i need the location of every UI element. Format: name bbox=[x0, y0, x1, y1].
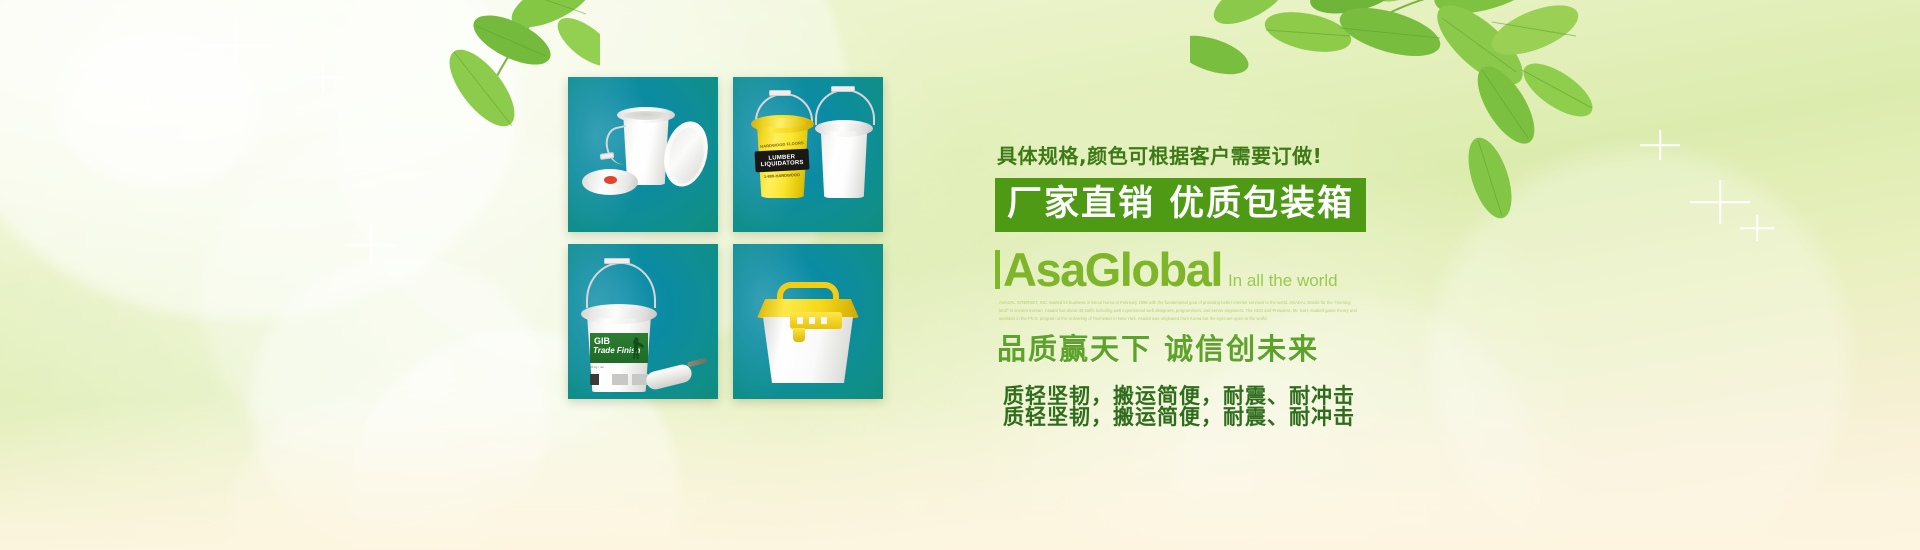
latch-slot bbox=[809, 317, 815, 324]
bottom-block-mid bbox=[612, 374, 628, 385]
promo-banner: HARDWOOD FLOORS FOR LESS! LUMBER LIQUIDA… bbox=[0, 0, 1920, 550]
lid-red-dot bbox=[604, 176, 617, 184]
bucket-label-black: LUMBER LIQUIDATORS bbox=[754, 149, 809, 173]
bokeh-circle bbox=[60, 30, 260, 190]
slogan-sub: 质轻坚韧，搬运简便，耐震、耐冲击 bbox=[1003, 386, 1553, 407]
white-bucket bbox=[818, 127, 870, 198]
slogan-main: 品质赢天下 诚信创未来 bbox=[997, 335, 1553, 364]
brand-accent-bar bbox=[995, 250, 1000, 289]
gib-product-text: Trade Finish bbox=[590, 346, 648, 355]
gib-green-label: GIB Trade Finish bbox=[590, 333, 648, 363]
promo-text-column: 具体规格,颜色可根据客户需要订做! 厂家直销 优质包装箱 AsaGlobal I… bbox=[993, 146, 1553, 428]
product-panel-4[interactable] bbox=[733, 244, 883, 399]
bottom-haze bbox=[0, 400, 1920, 550]
company-paragraph: ASADAL INTERNET, INC. started its busine… bbox=[999, 299, 1359, 322]
yellow-bucket-grip bbox=[769, 90, 791, 96]
bucket-bottom-text: 20 kg / net bbox=[590, 365, 648, 387]
product-panel-2[interactable]: HARDWOOD FLOORS FOR LESS! LUMBER LIQUIDA… bbox=[733, 77, 883, 232]
bottom-block-left bbox=[590, 374, 599, 385]
bokeh-circle bbox=[0, 0, 520, 320]
bucket-lid-top bbox=[590, 308, 648, 319]
product-image-grid: HARDWOOD FLOORS FOR LESS! LUMBER LIQUIDA… bbox=[568, 77, 903, 417]
slogan-sub-reflection: 质轻坚韧，搬运简便，耐震、耐冲击 bbox=[1003, 407, 1553, 428]
sparkle-icon bbox=[200, 20, 270, 70]
product-panel-3[interactable]: GIB Trade Finish 20 kg / net bbox=[568, 244, 718, 399]
banner-title: 厂家直销 优质包装箱 bbox=[995, 178, 1366, 232]
label-line-2: LIQUIDATORS bbox=[761, 159, 804, 167]
white-bucket-lid-top bbox=[822, 123, 866, 132]
brand-name: AsaGlobal bbox=[1003, 246, 1222, 293]
sparkle-icon bbox=[1690, 180, 1750, 224]
sparkle-icon bbox=[1740, 215, 1774, 241]
paint-roller bbox=[645, 363, 694, 392]
slogan-sub-wrap: 质轻坚韧，搬运简便，耐震、耐冲击 质轻坚韧，搬运简便，耐震、耐冲击 bbox=[1003, 386, 1553, 428]
latch-slot bbox=[797, 317, 803, 324]
brand-row: AsaGlobal In all the world bbox=[995, 246, 1553, 293]
sparkle-icon bbox=[1640, 130, 1680, 160]
box-latch-tongue bbox=[793, 328, 805, 342]
yellow-bucket-lid-top bbox=[759, 118, 806, 128]
paint-roller-handle bbox=[687, 358, 708, 368]
sparkle-icon bbox=[345, 225, 397, 265]
headline-small: 具体规格,颜色可根据客户需要订做! bbox=[997, 146, 1553, 166]
white-bucket-grip bbox=[831, 86, 855, 92]
white-bucket-rim-inner bbox=[623, 111, 669, 120]
sparkle-icon bbox=[130, 95, 164, 121]
brand-slogan: In all the world bbox=[1228, 272, 1338, 289]
product-panel-1[interactable] bbox=[568, 77, 718, 232]
latch-slot bbox=[821, 317, 827, 324]
sparkle-icon bbox=[300, 60, 346, 94]
bottom-spec-line: 20 kg / net bbox=[590, 365, 648, 369]
bucket-grip bbox=[604, 258, 630, 264]
